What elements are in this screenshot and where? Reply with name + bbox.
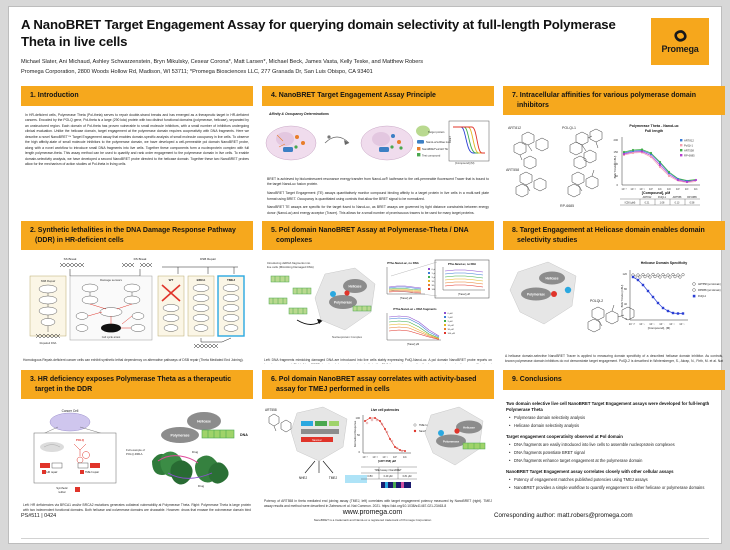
legend-item-polqi1: PolQi-1	[684, 143, 693, 147]
panel-heading-introduction: 1. Introduction	[21, 86, 253, 105]
svg-text:IC50 (µM): IC50 (µM)	[625, 201, 636, 204]
svg-text:[Tracer] µM: [Tracer] µM	[458, 293, 470, 296]
panel-assay-principle: 4. NanoBRET Target Engagement Assay Prin…	[262, 86, 494, 215]
svg-text:ART812: ART812	[643, 196, 652, 199]
chart-polymerase-theta-nanoluc: Polymerase Theta - NanoLuc Full length 2…	[613, 124, 700, 205]
compound-label-art812: ART812	[508, 126, 521, 130]
svg-text:NanoLuc: NanoLuc	[312, 439, 322, 442]
page-title: A NanoBRET Target Engagement Assay for q…	[21, 17, 633, 51]
chart-title-line2: Full length	[645, 129, 663, 133]
svg-text:50: 50	[357, 433, 360, 437]
figure-title-affinity-occupancy: Affinity & Occupancy Determinations	[269, 112, 493, 116]
caption-helicase-domain: A helicase domain-selective NanoBRET Tra…	[505, 354, 723, 364]
svg-text:BRCA: BRCA	[197, 278, 206, 282]
svg-text:[Tracer] µM: [Tracer] µM	[407, 343, 419, 346]
dna-fragments	[269, 276, 311, 314]
promega-diamond-icon	[673, 29, 688, 43]
legend-test-compound: Test compound	[422, 153, 441, 157]
chart-legend: ART812 PolQi-1 ART558 RP-6685	[680, 138, 695, 157]
chart-inset-zoom: PThe-NanoLuc, no DNA [Tracer] µM	[391, 260, 489, 298]
structure-polqi2	[588, 305, 634, 332]
svg-text:10⁻⁵: 10⁻⁵	[679, 322, 685, 326]
conclusion-bullet: DNA fragments enhance target engagement …	[514, 458, 722, 464]
label-helicase: Helicase	[349, 284, 362, 288]
svg-text:0: 0	[617, 183, 619, 187]
svg-text:10⁻¹: 10⁻¹	[382, 455, 387, 459]
panel-body-assay-principle: Affinity & Occupancy Determinations	[262, 106, 494, 216]
compound-label-art558: ART558	[506, 168, 519, 172]
chart-legend-helicase: ART558 (pol domain) RP6685 (pol domain) …	[693, 283, 721, 299]
figure-hr-deficiency-schematic: Cancer Cell POLQ HR repair	[22, 403, 250, 495]
svg-text:10⁵: 10⁵	[694, 187, 698, 191]
promega-url[interactable]: www.promega.com	[251, 509, 494, 517]
svg-text:10⁻²: 10⁻²	[630, 187, 635, 191]
svg-text:120: 120	[623, 272, 628, 276]
panel-body-intracellular-affinities: ART812 POLQi-1 ART558 RP-6685	[503, 115, 725, 215]
svg-text:0.13: 0.13	[675, 201, 680, 204]
panel-body-synthetic-lethalities: SS Break DS Break DSB Repair SSB	[21, 250, 253, 364]
svg-text:10¹: 10¹	[658, 187, 662, 191]
figure-assay-principle-schematic: Target protein NanoLuc\u00ae luciferase …	[263, 117, 491, 169]
svg-text:0.21: 0.21	[645, 201, 650, 204]
trademark-notice: NanoBRET is a trademark and NanoLuc a re…	[251, 518, 494, 522]
svg-text:WT: WT	[169, 278, 174, 282]
compound-label-art558-6: ART558	[265, 408, 277, 412]
promega-wordmark: Promega	[661, 44, 698, 54]
conclusion-bullet: Polymerase domain selectivity analysis	[514, 415, 722, 421]
svg-text:live cells (Mimicking Damaged: live cells (Mimicking Damaged DNA)	[267, 265, 314, 269]
panel-body-hr-deficiency: Cancer Cell POLQ HR repair	[21, 399, 253, 511]
label-dsb-repair: DSB Repair	[200, 257, 216, 261]
poster-footer: PS#511 | 0424 www.promega.com NanoBRET i…	[21, 509, 709, 535]
intro-paragraph: In HR-deficient cells, Polymerase Theta …	[22, 110, 252, 168]
poster-grid: 1. Introduction In HR-deficient cells, P…	[21, 86, 709, 511]
svg-text:0.58: 0.58	[690, 201, 695, 204]
svg-text:Repaired DNA: Repaired DNA	[40, 341, 57, 345]
panel-intracellular-affinities: 7. Intracellular affinities for various …	[503, 86, 725, 215]
svg-text:100 µM: 100 µM	[448, 333, 456, 335]
figure-nucleoprotein-complex: Introducing dsDNA fragments into live ce…	[263, 254, 491, 350]
panel-heading-helicase-domain: 8. Target Engagement at Helicase domain …	[503, 221, 725, 250]
svg-text:Normalized Response: Normalized Response	[353, 420, 357, 447]
svg-text:IC50: IC50	[367, 475, 373, 478]
label-polymerase: Polymerase	[334, 300, 352, 304]
svg-text:1.08: 1.08	[660, 201, 665, 204]
svg-text:0 µM: 0 µM	[448, 313, 453, 315]
figure-tmej-correlation: ART558 NanoLuc	[263, 403, 491, 491]
panel-tmej-correlation: 6. Pol domain NanoBRET assay correlates …	[262, 370, 494, 511]
svg-text:0: 0	[359, 450, 361, 454]
svg-text:10⁻²: 10⁻²	[372, 455, 377, 459]
conclusion-bullet: Helicase domain selectivity analysis	[514, 423, 722, 429]
column-wt: WT	[158, 276, 184, 336]
svg-text:0: 0	[626, 317, 628, 321]
label-drug-1: Drug	[192, 450, 199, 454]
series-open-circles	[632, 273, 685, 278]
svg-text:10⁻⁹: 10⁻⁹	[639, 322, 645, 326]
assay-paragraph-1: BRET is achieved by bioluminescent reson…	[267, 177, 489, 188]
conclusion-group-title-3: NanoBRET Target Engagement assay correla…	[506, 469, 722, 475]
svg-text:[Compound], (M): [Compound], (M)	[648, 326, 671, 330]
affiliation-line: Promega Corporation, 2800 Woods Hollow R…	[21, 68, 633, 77]
compound-label-polqi2: POLQi-2	[590, 299, 603, 303]
conclusion-bullet: DNA fragments potentiate BRET signal	[514, 450, 722, 456]
svg-text:200: 200	[614, 138, 619, 142]
chart-title-no-dna: PThe-NanoLuc, no DNA	[387, 261, 419, 265]
svg-text:10⁰: 10⁰	[393, 455, 398, 459]
svg-text:150: 150	[614, 150, 619, 154]
label-ds-break: DS Break	[134, 257, 147, 261]
panel-heading-hr-deficiency: 3. HR deficiency exposes Polymerase Thet…	[21, 370, 253, 399]
chart-title-live-cell: Live cell potencies	[371, 408, 400, 412]
figure-ddr-pathway-diagram: SS Break DS Break DSB Repair SSB	[22, 254, 250, 350]
panel-body-introduction: In HR-deficient cells, Polymerase Theta …	[21, 106, 253, 216]
label-helicase-8: Helicase	[546, 276, 559, 280]
dna-marker-strip	[381, 482, 411, 488]
conclusion-bullet: Potency of engagement matches published …	[514, 477, 722, 483]
label-drug-2: Drug	[198, 484, 205, 488]
chart-title-line1: Polymerase Theta - NanoLuc	[629, 124, 678, 128]
svg-text:BRET Ratio (mBU): BRET Ratio (mBU)	[613, 156, 617, 179]
panel-synthetic-lethalities: 2. Synthetic lethalities in the DNA Dama…	[21, 221, 253, 364]
label-ss-break: SS Break	[64, 257, 77, 261]
svg-text:PolQi-1: PolQi-1	[658, 196, 667, 199]
legend-target-protein: Target protein	[428, 130, 445, 134]
svg-text:10²: 10²	[667, 187, 671, 191]
svg-text:0.49 µM: 0.49 µM	[384, 475, 393, 478]
svg-text:TMEJ: TMEJ	[227, 278, 235, 282]
conclusion-bullet: NanoBRET provides a simple workflow to q…	[514, 485, 722, 491]
panel-heading-synthetic-lethalities: 2. Synthetic lethalities in the DNA Dama…	[21, 221, 253, 250]
svg-text:[Tracer] µM: [Tracer] µM	[400, 297, 412, 300]
svg-text:10 µM: 10 µM	[448, 325, 454, 327]
label-tmej: TMEJ	[329, 476, 338, 480]
label-nhej: NHEJ	[299, 476, 308, 480]
svg-text:RP-6685: RP-6685	[687, 196, 697, 199]
svg-text:30 µM: 30 µM	[448, 329, 454, 331]
structure-art558-6	[269, 414, 291, 432]
svg-text:40: 40	[624, 302, 627, 306]
svg-text:BRET Ratio (mBU): BRET Ratio (mBU)	[620, 285, 624, 308]
footer-center-block: www.promega.com NanoBRET is a trademark …	[251, 509, 494, 522]
conclusion-bullet: DNA fragments are easily introduced into…	[514, 442, 722, 448]
corresponding-author: Corresponding author: matt.robers@promeg…	[494, 509, 709, 519]
label-polq: POLQ	[76, 438, 85, 442]
label-damage-sensors: Damage sensors	[100, 278, 122, 282]
legend-item-art558: ART558	[684, 148, 694, 152]
svg-text:10⁻⁶: 10⁻⁶	[669, 322, 675, 326]
caption-tmej-correlation: Potency of ART558 in theta mediated end …	[264, 499, 492, 510]
legend-item-rp6685: RP-6685	[684, 153, 695, 157]
chart-helicase-domain-specificity: Helicase Domain Specificity 120 80 40 0 …	[620, 261, 721, 330]
figure-compound-structures-and-chart: ART812 POLQi-1 ART558 RP-6685	[504, 119, 722, 211]
svg-text:Polymerase: Polymerase	[170, 433, 189, 437]
svg-text:10³: 10³	[676, 187, 680, 191]
compound-label-polqi1: POLQi-1	[562, 126, 576, 130]
svg-text:Helicase: Helicase	[197, 419, 211, 423]
panel-body-pol-domain-assay: Introducing dsDNA fragments into live ce…	[262, 250, 494, 364]
label-ssb-repair: SSB Repair	[41, 279, 56, 283]
svg-text:10⁴: 10⁴	[685, 187, 690, 191]
structure-art558	[516, 172, 546, 197]
polq-protein-cartoon: Helicase Polymerase DNA	[161, 412, 248, 443]
svg-text:10⁻⁷: 10⁻⁷	[659, 322, 664, 326]
conclusion-group-title-1: Two domain selective live cell NanoBRET …	[506, 401, 722, 413]
panel-body-helicase-domain: Helicase Polymerase POLQi-2 Helicase	[503, 250, 725, 364]
panel-introduction: 1. Introduction In HR-deficient cells, P…	[21, 86, 253, 215]
conclusion-group-title-2: Target engagement cooperativity observed…	[506, 434, 722, 440]
panel-hr-deficiency: 3. HR deficiency exposes Polymerase Thet…	[21, 370, 253, 511]
structure-polqi1	[570, 129, 602, 169]
label-cancer-cell: Cancer Cell	[62, 409, 79, 413]
label-dna: DNA	[240, 433, 248, 437]
protein-structure-render: Drug Drug	[152, 450, 229, 488]
svg-text:0.81 µM: 0.81 µM	[403, 475, 412, 478]
svg-text:80: 80	[624, 287, 627, 291]
svg-text:10⁻⁸: 10⁻⁸	[649, 322, 655, 326]
poster-canvas: A NanoBRET Target Engagement Assay for q…	[8, 6, 722, 544]
svg-text:[Compound] (M): [Compound] (M)	[455, 161, 475, 165]
svg-text:10⁻¹⁰: 10⁻¹⁰	[629, 322, 636, 326]
svg-text:10⁻³: 10⁻³	[362, 455, 367, 459]
svg-text:100: 100	[356, 416, 361, 420]
legend-tmej-repair: TMEJ repair	[85, 470, 99, 474]
legend-rp6685-pol: RP6685 (pol domain)	[698, 289, 721, 292]
poster-header: A NanoBRET Target Engagement Assay for q…	[21, 17, 709, 77]
svg-text:[Compound], µM: [Compound], µM	[642, 191, 670, 195]
panel-body-tmej-correlation: ART558 NanoLuc	[262, 399, 494, 511]
label-nucleoprotein-complex: Nucleoprotein Complex	[332, 335, 363, 339]
svg-text:ART558: ART558	[673, 196, 682, 199]
structure-art812	[514, 132, 548, 169]
svg-text:TMEJ assay / NanoBRET: TMEJ assay / NanoBRET	[374, 469, 402, 472]
panel-heading-intracellular-affinities: 7. Intracellular affinities for various …	[503, 86, 725, 115]
caption-synthetic-lethalities: Homologous Repair-deficient cancer cells…	[23, 358, 251, 363]
column-tmej: TMEJ	[218, 276, 244, 336]
assay-paragraph-2: NanoBRET Target Engagement (TE) assays q…	[267, 191, 489, 202]
svg-text:10¹: 10¹	[403, 455, 407, 459]
legend-art558-pol: ART558 (pol domain)	[698, 283, 721, 286]
figure-helicase-specificity: Helicase Polymerase POLQi-2 Helicase	[504, 254, 722, 346]
panel-conclusions: 9. Conclusions Two domain selective live…	[503, 370, 725, 511]
compound-label-rp6685: RP-6685	[560, 204, 574, 208]
promega-logo: Promega	[651, 18, 709, 65]
svg-text:3 µM: 3 µM	[448, 321, 453, 323]
footer-divider	[21, 538, 709, 539]
panel-body-conclusions: Two domain selective live cell NanoBRET …	[503, 390, 725, 512]
legend-hr-repair: HR repair	[46, 470, 57, 474]
caption-pol-domain-assay: Left: DNA fragments mimicking damaged DN…	[264, 358, 492, 364]
label-polymerase-8: Polymerase	[527, 292, 545, 296]
panel-heading-conclusions: 9. Conclusions	[503, 370, 725, 389]
svg-text:[ART-558] µM: [ART-558] µM	[378, 459, 396, 463]
panel-pol-domain-assay: 5. Pol domain NanoBRET Assay at Polymera…	[262, 221, 494, 364]
svg-text:10⁻³: 10⁻³	[621, 187, 626, 191]
author-list: Michael Slater, Ani Michaud, Ashley Schw…	[21, 58, 633, 67]
svg-text:POLQ-RM1A: POLQ-RM1A	[126, 452, 143, 456]
svg-text:lethal: lethal	[59, 490, 66, 494]
svg-text:PThe-NanoLuc, no DNA: PThe-NanoLuc, no DNA	[448, 263, 476, 266]
label-cell-cycle-arrest: Cell cycle arrest	[102, 335, 121, 339]
svg-text:Polymerase: Polymerase	[443, 439, 460, 443]
svg-text:10⁻¹: 10⁻¹	[639, 187, 644, 191]
chart-title-with-dna: PThe-NanoLuc + DNA fragments	[393, 307, 437, 311]
poster-id: PS#511 | 0424	[21, 509, 251, 519]
legend-polqi2: PolQi-2	[698, 295, 707, 298]
panel-heading-tmej-correlation: 6. Pol domain NanoBRET assay correlates …	[262, 370, 494, 399]
panel-heading-pol-domain-assay: 5. Pol domain NanoBRET Assay at Polymera…	[262, 221, 494, 250]
svg-text:Helicase: Helicase	[463, 425, 475, 429]
header-text-block: A NanoBRET Target Engagement Assay for q…	[21, 17, 633, 77]
inset-dose-response-chart: BRET [Compound] (M)	[448, 121, 489, 165]
chart-with-dna: PThe-NanoLuc + DNA fragments 0 µM 1 µM 3	[387, 307, 455, 346]
svg-text:1 µM: 1 µM	[448, 317, 453, 319]
structure-rp6685	[568, 170, 598, 197]
legend-item-art812: ART812	[684, 138, 694, 142]
svg-text:BRET: BRET	[448, 135, 452, 143]
panel-heading-assay-principle: 4. NanoBRET Target Engagement Assay Prin…	[262, 86, 494, 105]
chart-no-dna: PThe-NanoLuc, no DNA 0 µM 1 µM 3 µM	[387, 261, 439, 300]
column-brca: BRCA	[188, 276, 214, 336]
assay-paragraph-3: NanoBRET TE assays are specific for the …	[267, 205, 489, 215]
chart-title-helicase: Helicase Domain Specificity	[641, 261, 688, 265]
panel-helicase-domain: 8. Target Engagement at Helicase domain …	[503, 221, 725, 364]
